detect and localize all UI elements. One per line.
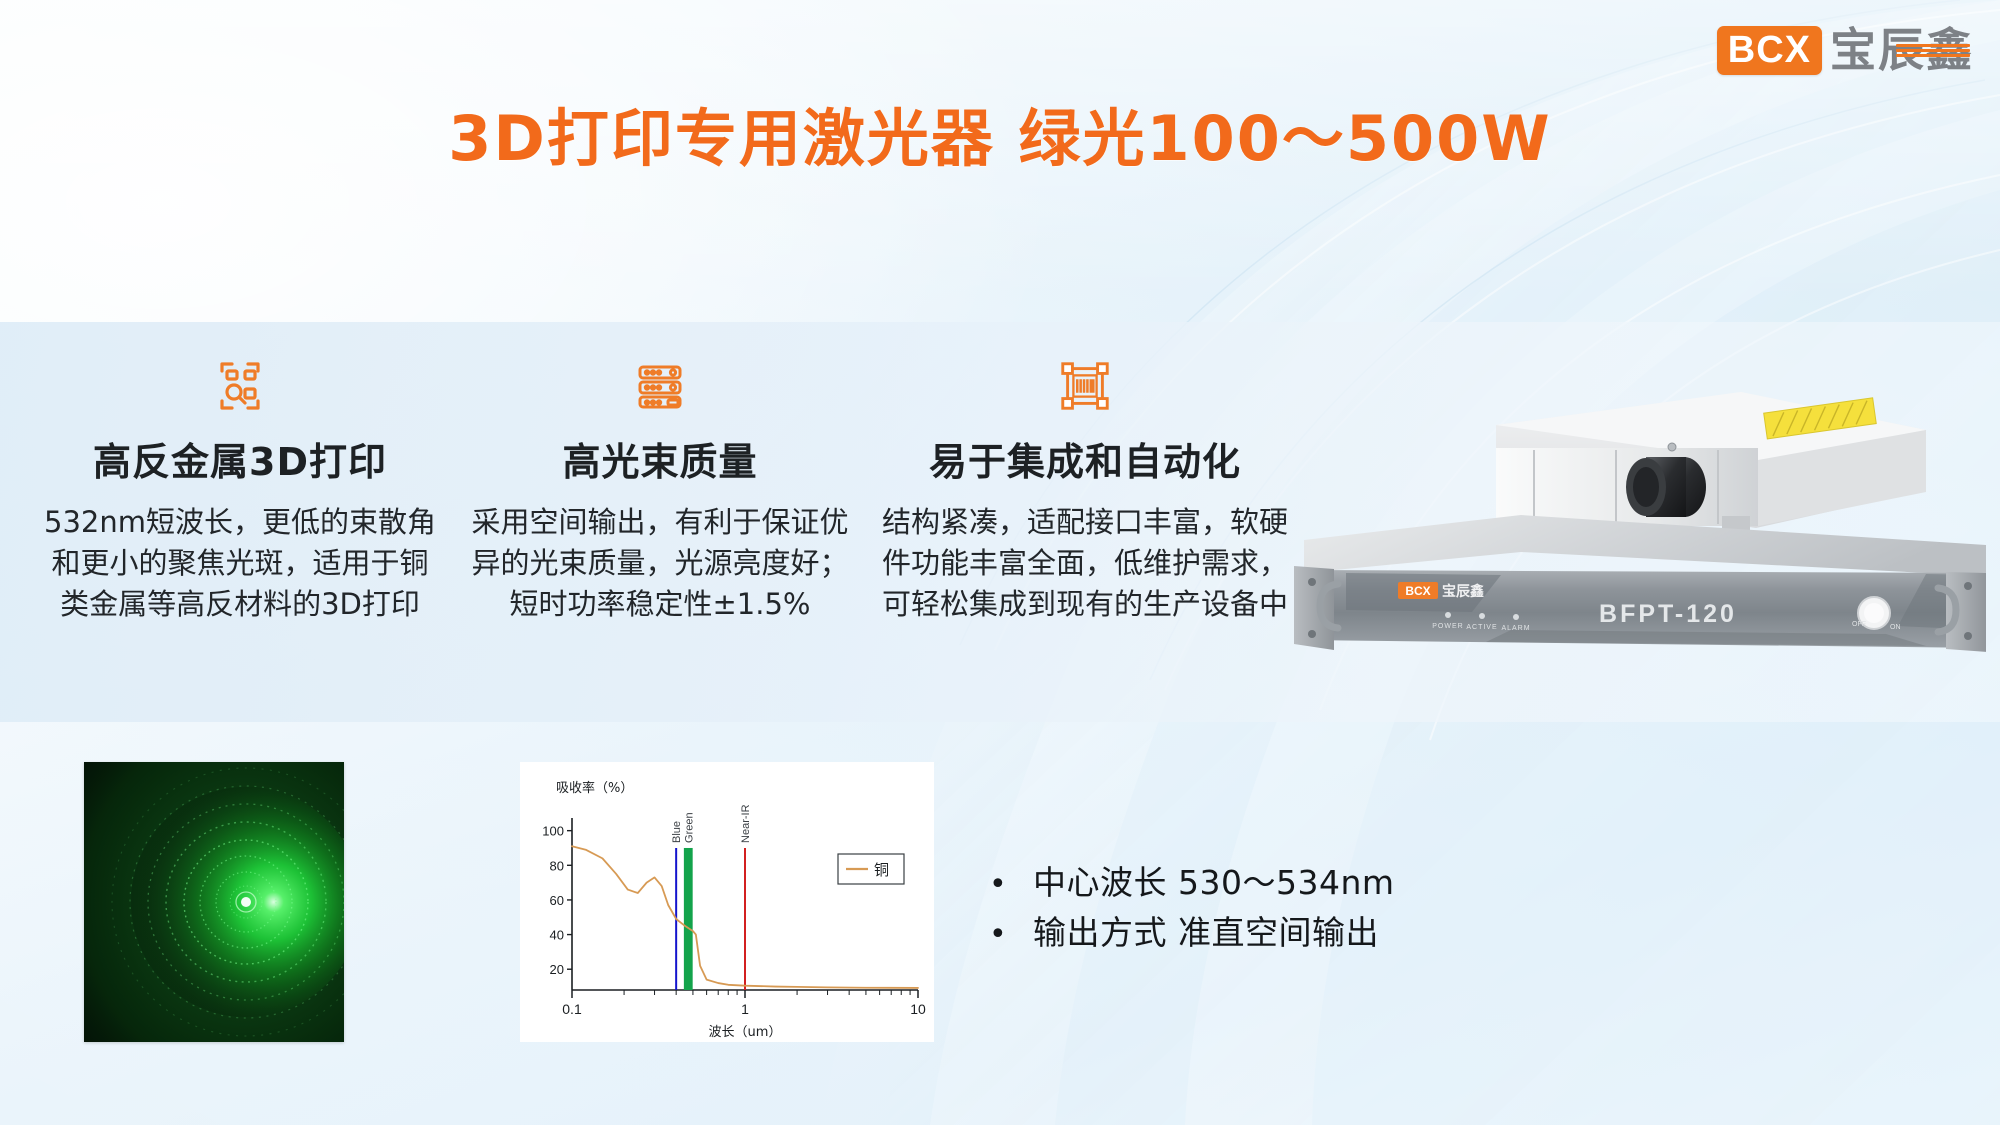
svg-text:10: 10 (910, 1001, 926, 1017)
svg-text:BCX: BCX (1405, 584, 1430, 598)
spec-bullet-row: • 输出方式 准直空间输出 (985, 912, 1605, 953)
spec-text: 输出方式 准直空间输出 (1033, 912, 1379, 953)
svg-text:1: 1 (741, 1001, 749, 1017)
brand-logo: BCX 宝辰鑫 (1717, 22, 1974, 78)
feature-item-3: 易于集成和自动化 结构紧凑，适配接口丰富，软硬件功能丰富全面，低维护需求，可轻松… (880, 355, 1290, 626)
svg-text:波长（um）: 波长（um） (709, 1025, 782, 1040)
svg-text:Green: Green (683, 812, 695, 843)
logo-chinese-text: 宝辰鑫 (1830, 23, 1974, 77)
svg-text:POWER: POWER (1432, 623, 1463, 630)
svg-text:Near-IR: Near-IR (740, 804, 752, 843)
feature-item-2: 高光束质量 采用空间输出，有利于保证优异的光束质量，光源亮度好；短时功率稳定性±… (460, 355, 860, 626)
svg-text:0.1: 0.1 (562, 1001, 582, 1017)
logo-mark-text: BCX (1728, 31, 1811, 69)
features-list: 高反金属3D打印 532nm短波长，更低的束散角和更小的聚焦光斑，适用于铜类金属… (40, 355, 1290, 695)
slide-root: BCX 宝辰鑫 3D打印专用激光器 绿光100～500W 高反金属3D打印 (0, 0, 2000, 1125)
svg-text:80: 80 (550, 858, 564, 873)
svg-text:铜: 铜 (874, 861, 889, 879)
svg-text:40: 40 (550, 928, 564, 943)
feature-body: 采用空间输出，有利于保证优异的光束质量，光源亮度好；短时功率稳定性±1.5% (460, 502, 860, 626)
svg-text:60: 60 (550, 893, 564, 908)
bullet-marker: • (985, 870, 1033, 900)
logo-mark-bcx: BCX (1717, 26, 1822, 75)
page-title: 3D打印专用激光器 绿光100～500W (0, 88, 2000, 178)
svg-text:OFF: OFF (1852, 621, 1866, 628)
svg-text:20: 20 (550, 962, 564, 977)
bullet-marker: • (985, 920, 1033, 950)
absorption-chart: 吸收率（%）204060801000.1110波长（um）BlueGreenNe… (520, 762, 934, 1042)
spec-bullet-list: • 中心波长 530～534nm • 输出方式 准直空间输出 (985, 862, 1605, 963)
svg-text:ALARM: ALARM (1501, 625, 1530, 632)
feature-heading: 高反金属3D打印 (40, 431, 440, 486)
logo-chinese-name: 宝辰鑫 (1830, 27, 1974, 73)
feature-heading: 易于集成和自动化 (880, 431, 1290, 486)
spec-text: 中心波长 530～534nm (1033, 862, 1395, 903)
svg-text:100: 100 (542, 824, 564, 839)
svg-text:ACTIVE: ACTIVE (1466, 624, 1497, 631)
svg-text:宝辰鑫: 宝辰鑫 (1442, 583, 1484, 600)
svg-text:Blue: Blue (671, 821, 683, 843)
server-rack-icon (460, 355, 860, 417)
svg-text:ON: ON (1890, 624, 1901, 631)
feature-body: 结构紧凑，适配接口丰富，软硬件功能丰富全面，低维护需求，可轻松集成到现有的生产设… (880, 502, 1290, 626)
laser-device-image: BCX 宝辰鑫 POWER ACTIVE ALARM BFPT-120 OFF (1286, 330, 1986, 660)
laser-beam-photo (84, 762, 344, 1042)
svg-text:吸收率（%）: 吸收率（%） (556, 780, 633, 796)
svg-text:BFPT-120: BFPT-120 (1599, 600, 1737, 628)
feature-heading: 高光束质量 (460, 431, 860, 486)
spec-bullet-row: • 中心波长 530～534nm (985, 862, 1605, 903)
document-inspect-icon (40, 355, 440, 417)
scan-frame-icon (880, 355, 1290, 417)
feature-item-1: 高反金属3D打印 532nm短波长，更低的束散角和更小的聚焦光斑，适用于铜类金属… (40, 355, 440, 626)
feature-body: 532nm短波长，更低的束散角和更小的聚焦光斑，适用于铜类金属等高反材料的3D打… (40, 502, 440, 626)
